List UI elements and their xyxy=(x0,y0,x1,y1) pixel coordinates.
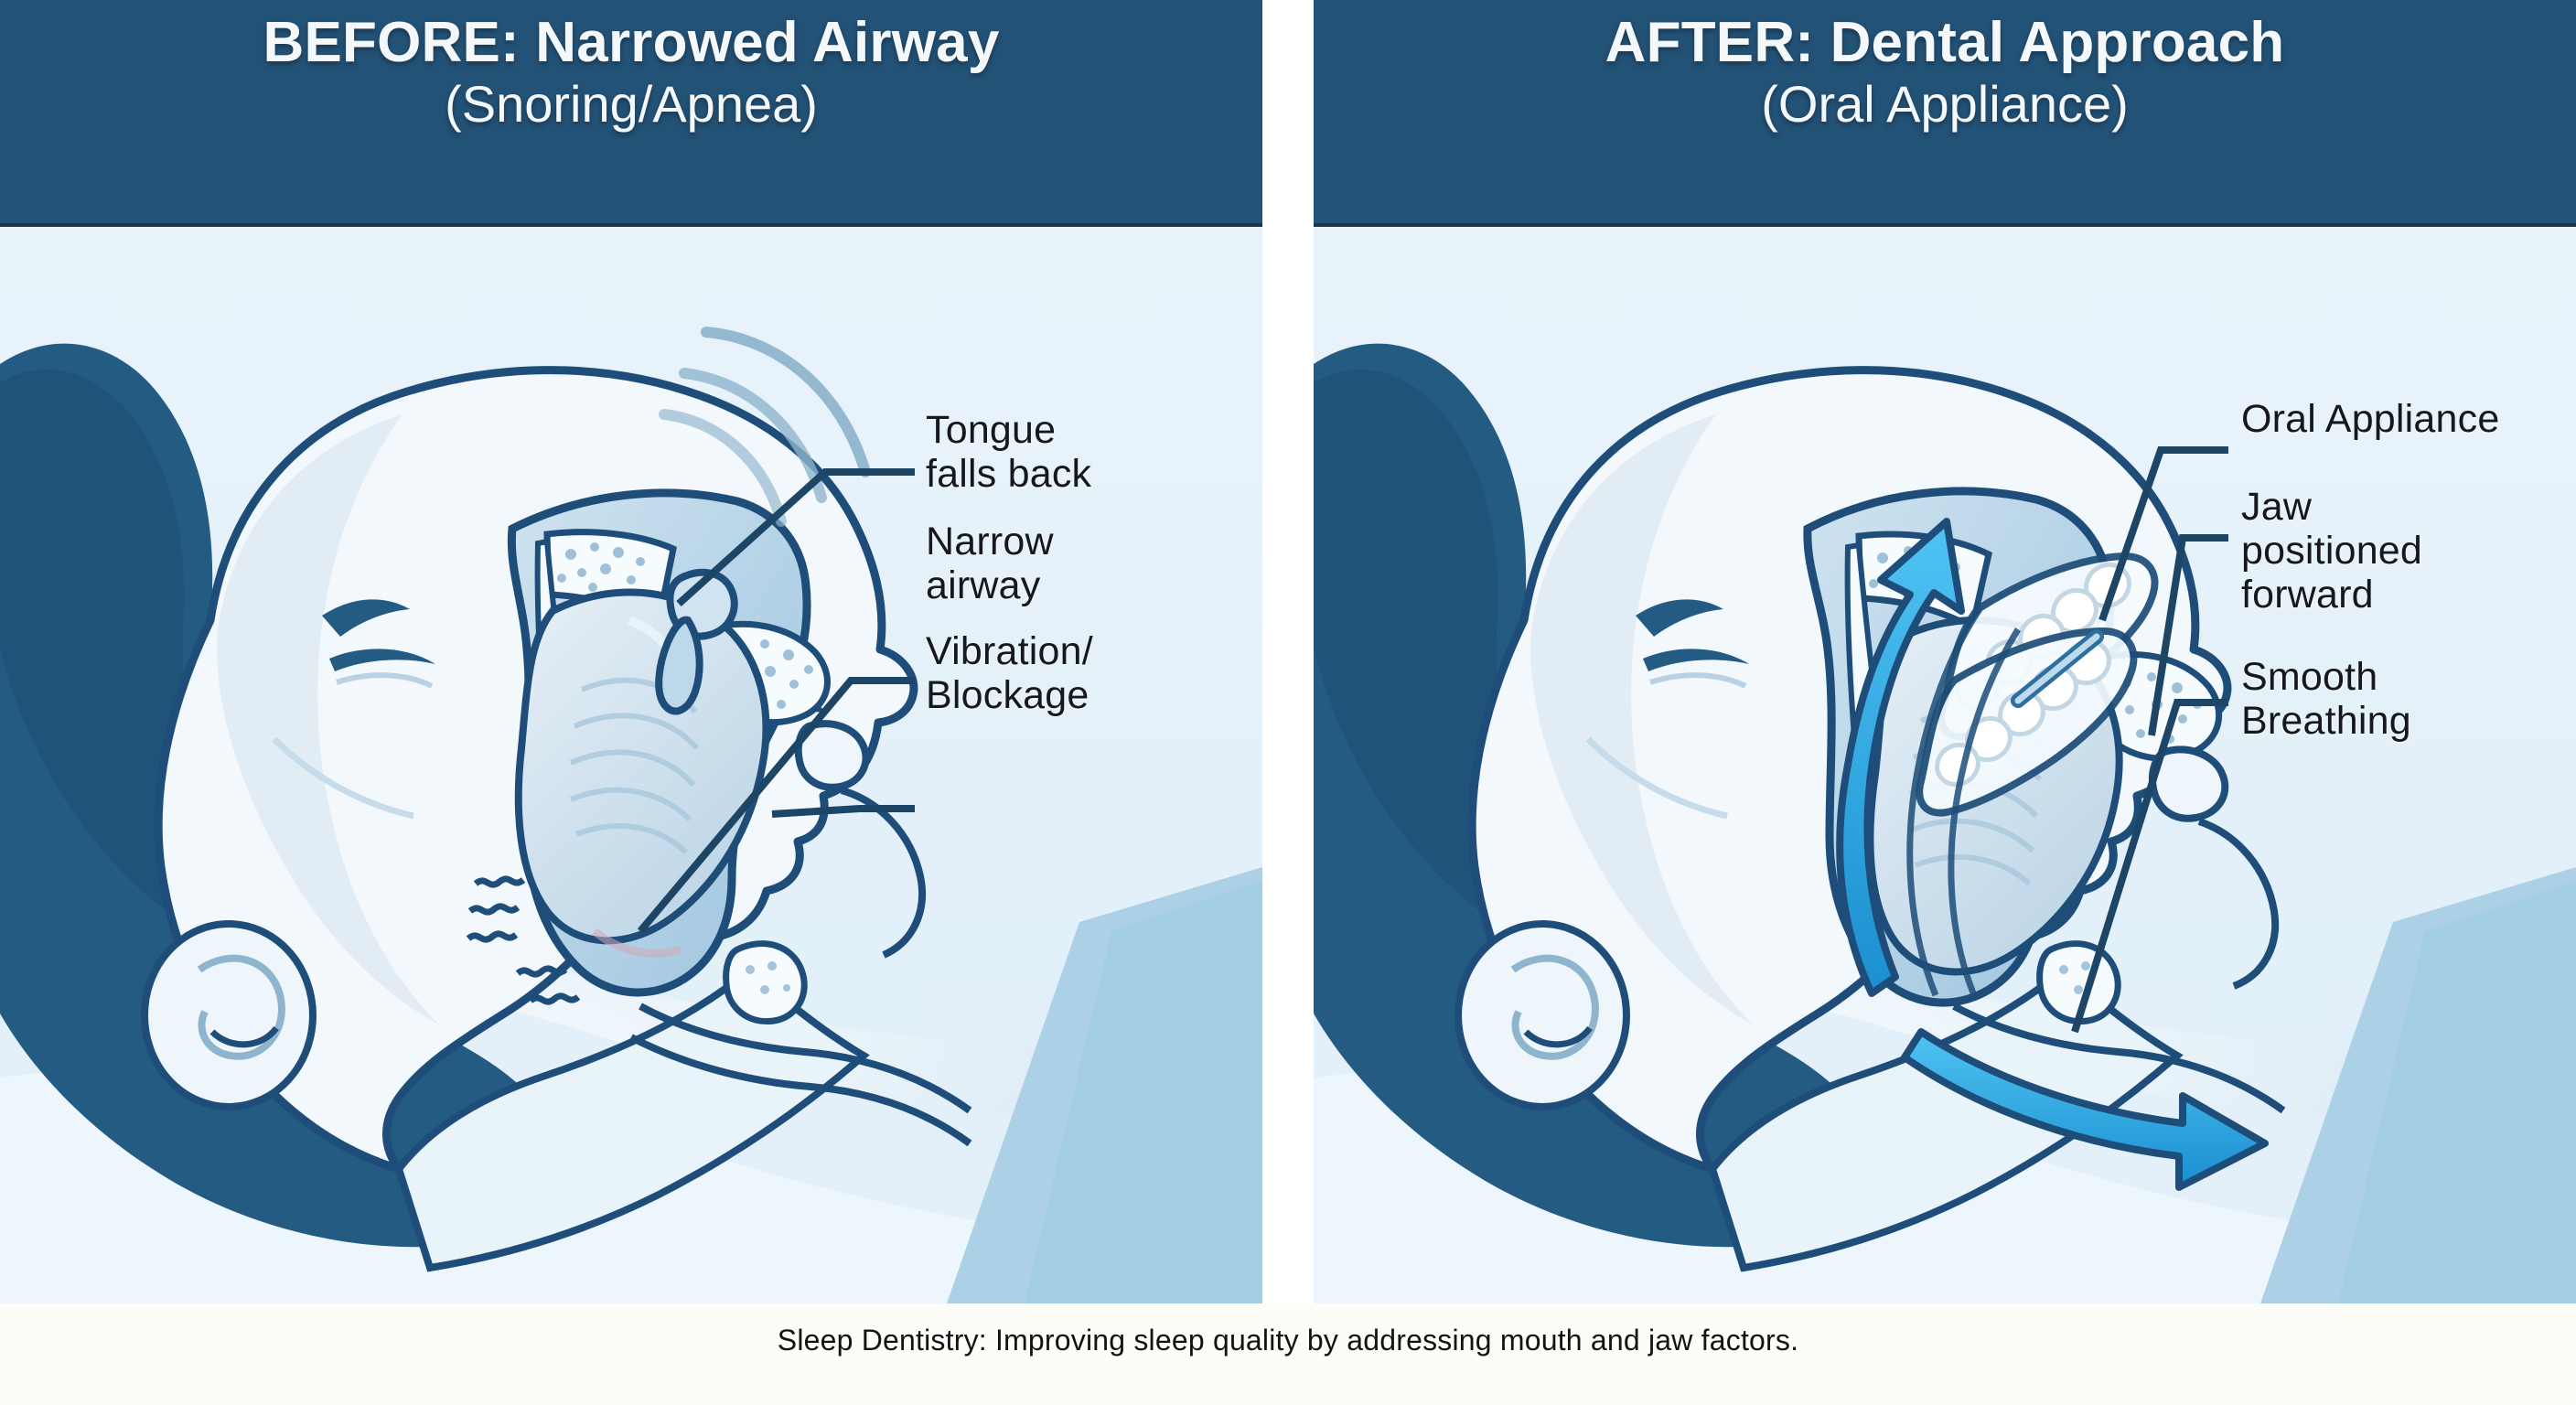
panel-before-header: BEFORE: Narrowed Airway (Snoring/Apnea) xyxy=(0,0,1262,227)
diagram-root: BEFORE: Narrowed Airway (Snoring/Apnea) xyxy=(0,0,2576,1405)
panel-before-title: BEFORE: Narrowed Airway xyxy=(0,11,1262,74)
before-anatomy-svg xyxy=(0,227,1262,1303)
label-narrow-airway: Narrow airway xyxy=(926,520,1054,607)
panel-before-illustration: Tongue falls back Narrow airway Vibratio… xyxy=(0,227,1262,1303)
label-tongue-falls-back: Tongue falls back xyxy=(926,408,1091,496)
footer-bar: Sleep Dentistry: Improving sleep quality… xyxy=(0,1303,2576,1405)
label-jaw-positioned-forward: Jaw positioned forward xyxy=(2241,485,2422,617)
panel-after-title: AFTER: Dental Approach xyxy=(1314,11,2576,74)
ear-after xyxy=(1458,924,1626,1107)
after-anatomy-svg xyxy=(1314,227,2576,1303)
panel-after: AFTER: Dental Approach (Oral Appliance) xyxy=(1314,0,2576,1303)
label-vibration-blockage: Vibration/ Blockage xyxy=(926,629,1093,717)
ear-before xyxy=(145,924,313,1107)
panel-after-illustration: Oral Appliance Jaw positioned forward Sm… xyxy=(1314,227,2576,1303)
panel-divider xyxy=(1262,0,1314,1303)
panel-before-subtitle: (Snoring/Apnea) xyxy=(0,76,1262,134)
panel-after-header: AFTER: Dental Approach (Oral Appliance) xyxy=(1314,0,2576,227)
footer-caption: Sleep Dentistry: Improving sleep quality… xyxy=(0,1324,2576,1357)
label-oral-appliance: Oral Appliance xyxy=(2241,397,2499,441)
panel-before: BEFORE: Narrowed Airway (Snoring/Apnea) xyxy=(0,0,1262,1303)
panel-after-subtitle: (Oral Appliance) xyxy=(1314,76,2576,134)
label-smooth-breathing: Smooth Breathing xyxy=(2241,655,2411,743)
